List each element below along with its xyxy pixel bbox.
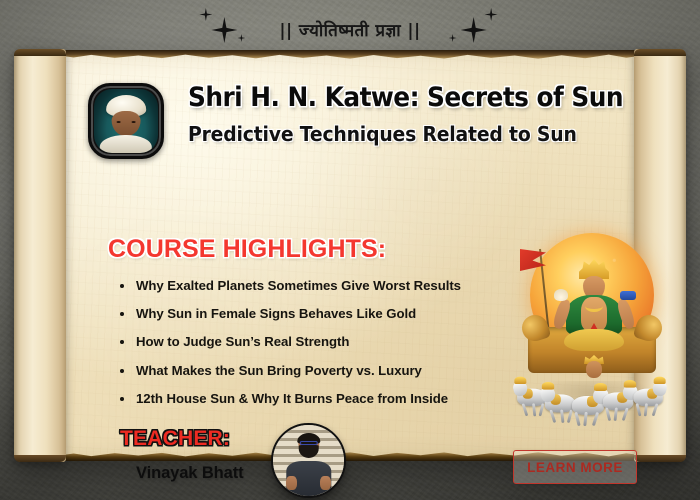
list-item: Why Exalted Planets Sometimes Give Worst… — [118, 278, 528, 293]
learn-more-button[interactable]: LEARN MORE — [513, 450, 637, 484]
list-item: What Makes the Sun Bring Poverty vs. Lux… — [118, 363, 528, 378]
surya-illustration — [506, 231, 686, 421]
page-title: Shri H. N. Katwe: Secrets of Sun — [188, 83, 620, 113]
avatar-eye — [117, 121, 121, 123]
deity-lotus — [554, 289, 568, 301]
sanskrit-title: || ज्योतिष्मती प्रज्ञा || — [279, 18, 420, 41]
sparkle-large-icon — [461, 17, 487, 43]
sparkle-small-icon — [199, 8, 212, 21]
teacher-arm — [286, 476, 297, 490]
avatar-garment — [100, 135, 152, 153]
sparkle-cluster-left-icon — [197, 6, 253, 52]
chariot-horses — [508, 357, 684, 421]
course-title-row: Shri H. N. Katwe: Secrets of Sun Predict… — [88, 83, 658, 146]
avatar-eye — [131, 121, 135, 123]
scroll-content: Shri H. N. Katwe: Secrets of Sun Predict… — [20, 53, 680, 458]
avatar — [88, 83, 164, 159]
sparkle-large-icon — [211, 17, 237, 43]
horse-plume — [654, 377, 666, 384]
horse — [632, 380, 669, 411]
deity-blue-object — [620, 291, 636, 300]
course-highlights-heading: COURSE HIGHLIGHTS: — [108, 235, 386, 264]
sparkle-small-icon — [485, 8, 498, 21]
teacher-arm — [320, 476, 331, 490]
avatar-face — [112, 111, 141, 137]
horse-plume — [542, 382, 554, 390]
parchment-scroll: Shri H. N. Katwe: Secrets of Sun Predict… — [20, 53, 680, 458]
banner-header: || ज्योतिष्मती प्रज्ञा || — [0, 0, 700, 58]
course-highlights-list: Why Exalted Planets Sometimes Give Worst… — [118, 278, 528, 419]
deity-lower-garment — [564, 329, 624, 351]
sparkle-tiny-icon — [237, 34, 245, 42]
list-item: 12th House Sun & Why It Burns Peace from… — [118, 391, 528, 406]
list-item: Why Sun in Female Signs Behaves Like Gol… — [118, 306, 528, 321]
teacher-avatar — [271, 423, 346, 498]
list-item: How to Judge Sun’s Real Strength — [118, 334, 528, 349]
sparkle-tiny-icon — [449, 34, 457, 42]
teacher-name: Vinayak Bhatt — [136, 464, 244, 483]
sparkle-cluster-right-icon — [447, 6, 503, 52]
page-subtitle: Predictive Techniques Related to Sun — [188, 122, 630, 146]
title-block: Shri H. N. Katwe: Secrets of Sun Predict… — [188, 83, 658, 146]
deity-necklace — [585, 300, 603, 312]
horse-leg — [614, 407, 618, 421]
teacher-label: TEACHER: — [120, 427, 230, 451]
horse-leg — [644, 403, 648, 416]
horse-leg — [583, 412, 587, 426]
surya-deity-figure — [558, 259, 630, 351]
avatar-photo — [94, 89, 158, 153]
